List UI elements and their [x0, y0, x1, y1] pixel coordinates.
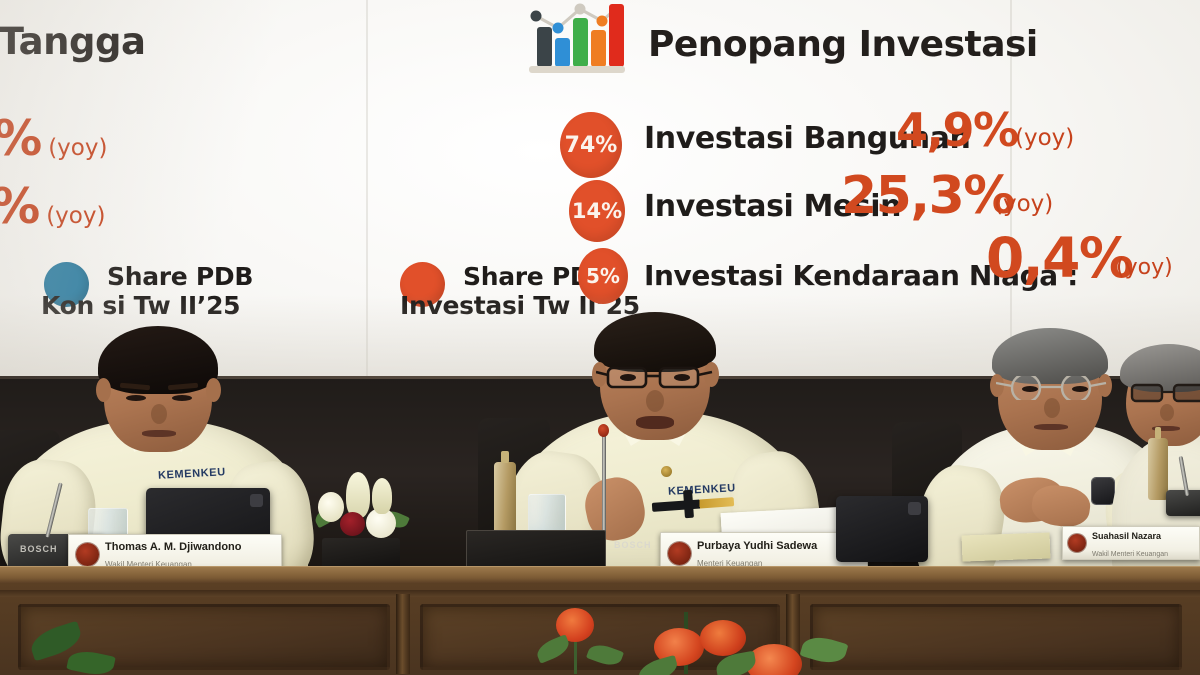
bosch-label-left: BOSCH	[20, 544, 58, 554]
wristwatch	[1092, 478, 1114, 504]
nose	[646, 390, 664, 412]
eyeglasses	[1124, 382, 1200, 404]
flower-snapdragon	[372, 478, 392, 514]
kemenkeu-crest-icon	[76, 543, 99, 566]
lapel-pin	[661, 466, 672, 477]
nose	[151, 404, 167, 424]
eye-left	[620, 374, 636, 381]
eye-right	[172, 395, 192, 401]
investment-unit-mesin: (yoy)	[994, 191, 1053, 217]
eyeglasses	[596, 364, 716, 390]
nameplate-role: Wakil Menteri Keuangan	[1092, 551, 1168, 558]
mouth-open	[636, 416, 674, 429]
mic-head	[598, 424, 609, 437]
bottle-right[interactable]	[1148, 438, 1168, 500]
flower-orange	[700, 620, 746, 656]
microphone-right[interactable]	[1166, 470, 1200, 530]
desk-panel	[810, 604, 1182, 670]
left-stat-2-value: 5%	[0, 178, 39, 235]
legend-konsumsi-text: Share PDBKon si Tw II’25	[107, 262, 253, 320]
desk-divider	[396, 594, 410, 674]
bottle[interactable]	[494, 462, 516, 534]
eyeglasses	[996, 376, 1108, 400]
bosch-label-center: BOSCH	[614, 540, 652, 550]
notepad-right[interactable]	[962, 532, 1051, 561]
nameplate-name: Suahasil Nazara	[1092, 531, 1161, 541]
investment-unit-bangunan: (yoy)	[1015, 125, 1074, 151]
left-panel-title: ah Tangga	[0, 20, 145, 63]
nameplate-name: Purbaya Yudhi Sadewa	[697, 540, 817, 552]
left-stat-1-value: 2%	[0, 110, 41, 167]
flower-snapdragon	[346, 472, 370, 518]
ear-right	[206, 378, 221, 402]
left-stat-2-unit: (yoy)	[46, 203, 105, 229]
share-bubble-bangunan: 74%	[560, 112, 622, 178]
left-stat-1-unit: (yoy)	[48, 135, 107, 161]
nameplate-suahasil: Suahasil Nazara Wakil Menteri Keuangan	[1062, 526, 1200, 560]
mic-base	[1166, 490, 1200, 516]
share-bubble-mesin: 14%	[569, 180, 625, 242]
press-conference-scene: ah Tangga 2%(yoy) 5%(yoy) y) Share PDBKo…	[0, 0, 1200, 675]
eye-right	[1072, 386, 1088, 392]
kemenkeu-crest-icon	[668, 542, 691, 565]
flower-white	[318, 492, 344, 522]
nose	[1160, 404, 1174, 421]
mouth	[1034, 424, 1068, 430]
legend-konsumsi-line2: Kon si Tw II’25	[41, 291, 240, 320]
ear-left	[96, 378, 111, 402]
nameplate-name: Thomas A. M. Djiwandono	[105, 541, 241, 553]
nose	[1044, 398, 1060, 418]
investment-unit-kendaraan-niaga: (yoy)	[1116, 255, 1173, 280]
desk-top-edge	[0, 566, 1200, 583]
tablet-right[interactable]	[836, 496, 928, 562]
screen-seam	[366, 0, 368, 378]
left-stat-2: 5%(yoy)	[0, 178, 105, 235]
nameplate-text: Suahasil Nazara Wakil Menteri Keuangan	[1092, 526, 1168, 560]
share-bubble-kendaraan-niaga: 5%	[578, 248, 628, 304]
legend-share-pdb-konsumsi: Share PDBKon si Tw II’25	[44, 262, 253, 320]
pen-clip	[683, 490, 694, 519]
desk-rail	[0, 590, 1200, 597]
investment-value-mesin: 25,3%	[841, 166, 1014, 226]
eye-right	[674, 374, 690, 381]
legend-konsumsi-line1: Share PDB	[107, 262, 253, 291]
investment-value-kendaraan-niaga: 0,4%	[986, 226, 1133, 290]
projection-screen: ah Tangga 2%(yoy) 5%(yoy) y) Share PDBKo…	[0, 0, 1200, 378]
eye-left	[1022, 386, 1038, 392]
eye-left	[126, 395, 146, 401]
mouth	[142, 430, 176, 437]
investment-value-bangunan: 4,9%	[896, 103, 1018, 157]
kemenkeu-crest-icon	[1068, 534, 1086, 552]
mic-stem	[602, 432, 606, 540]
flower-red-rose	[340, 512, 365, 536]
left-stat-1: 2%(yoy)	[0, 110, 107, 167]
right-panel-title: Penopang Investasi	[648, 24, 1038, 65]
bar-chart-icon	[524, 0, 628, 80]
